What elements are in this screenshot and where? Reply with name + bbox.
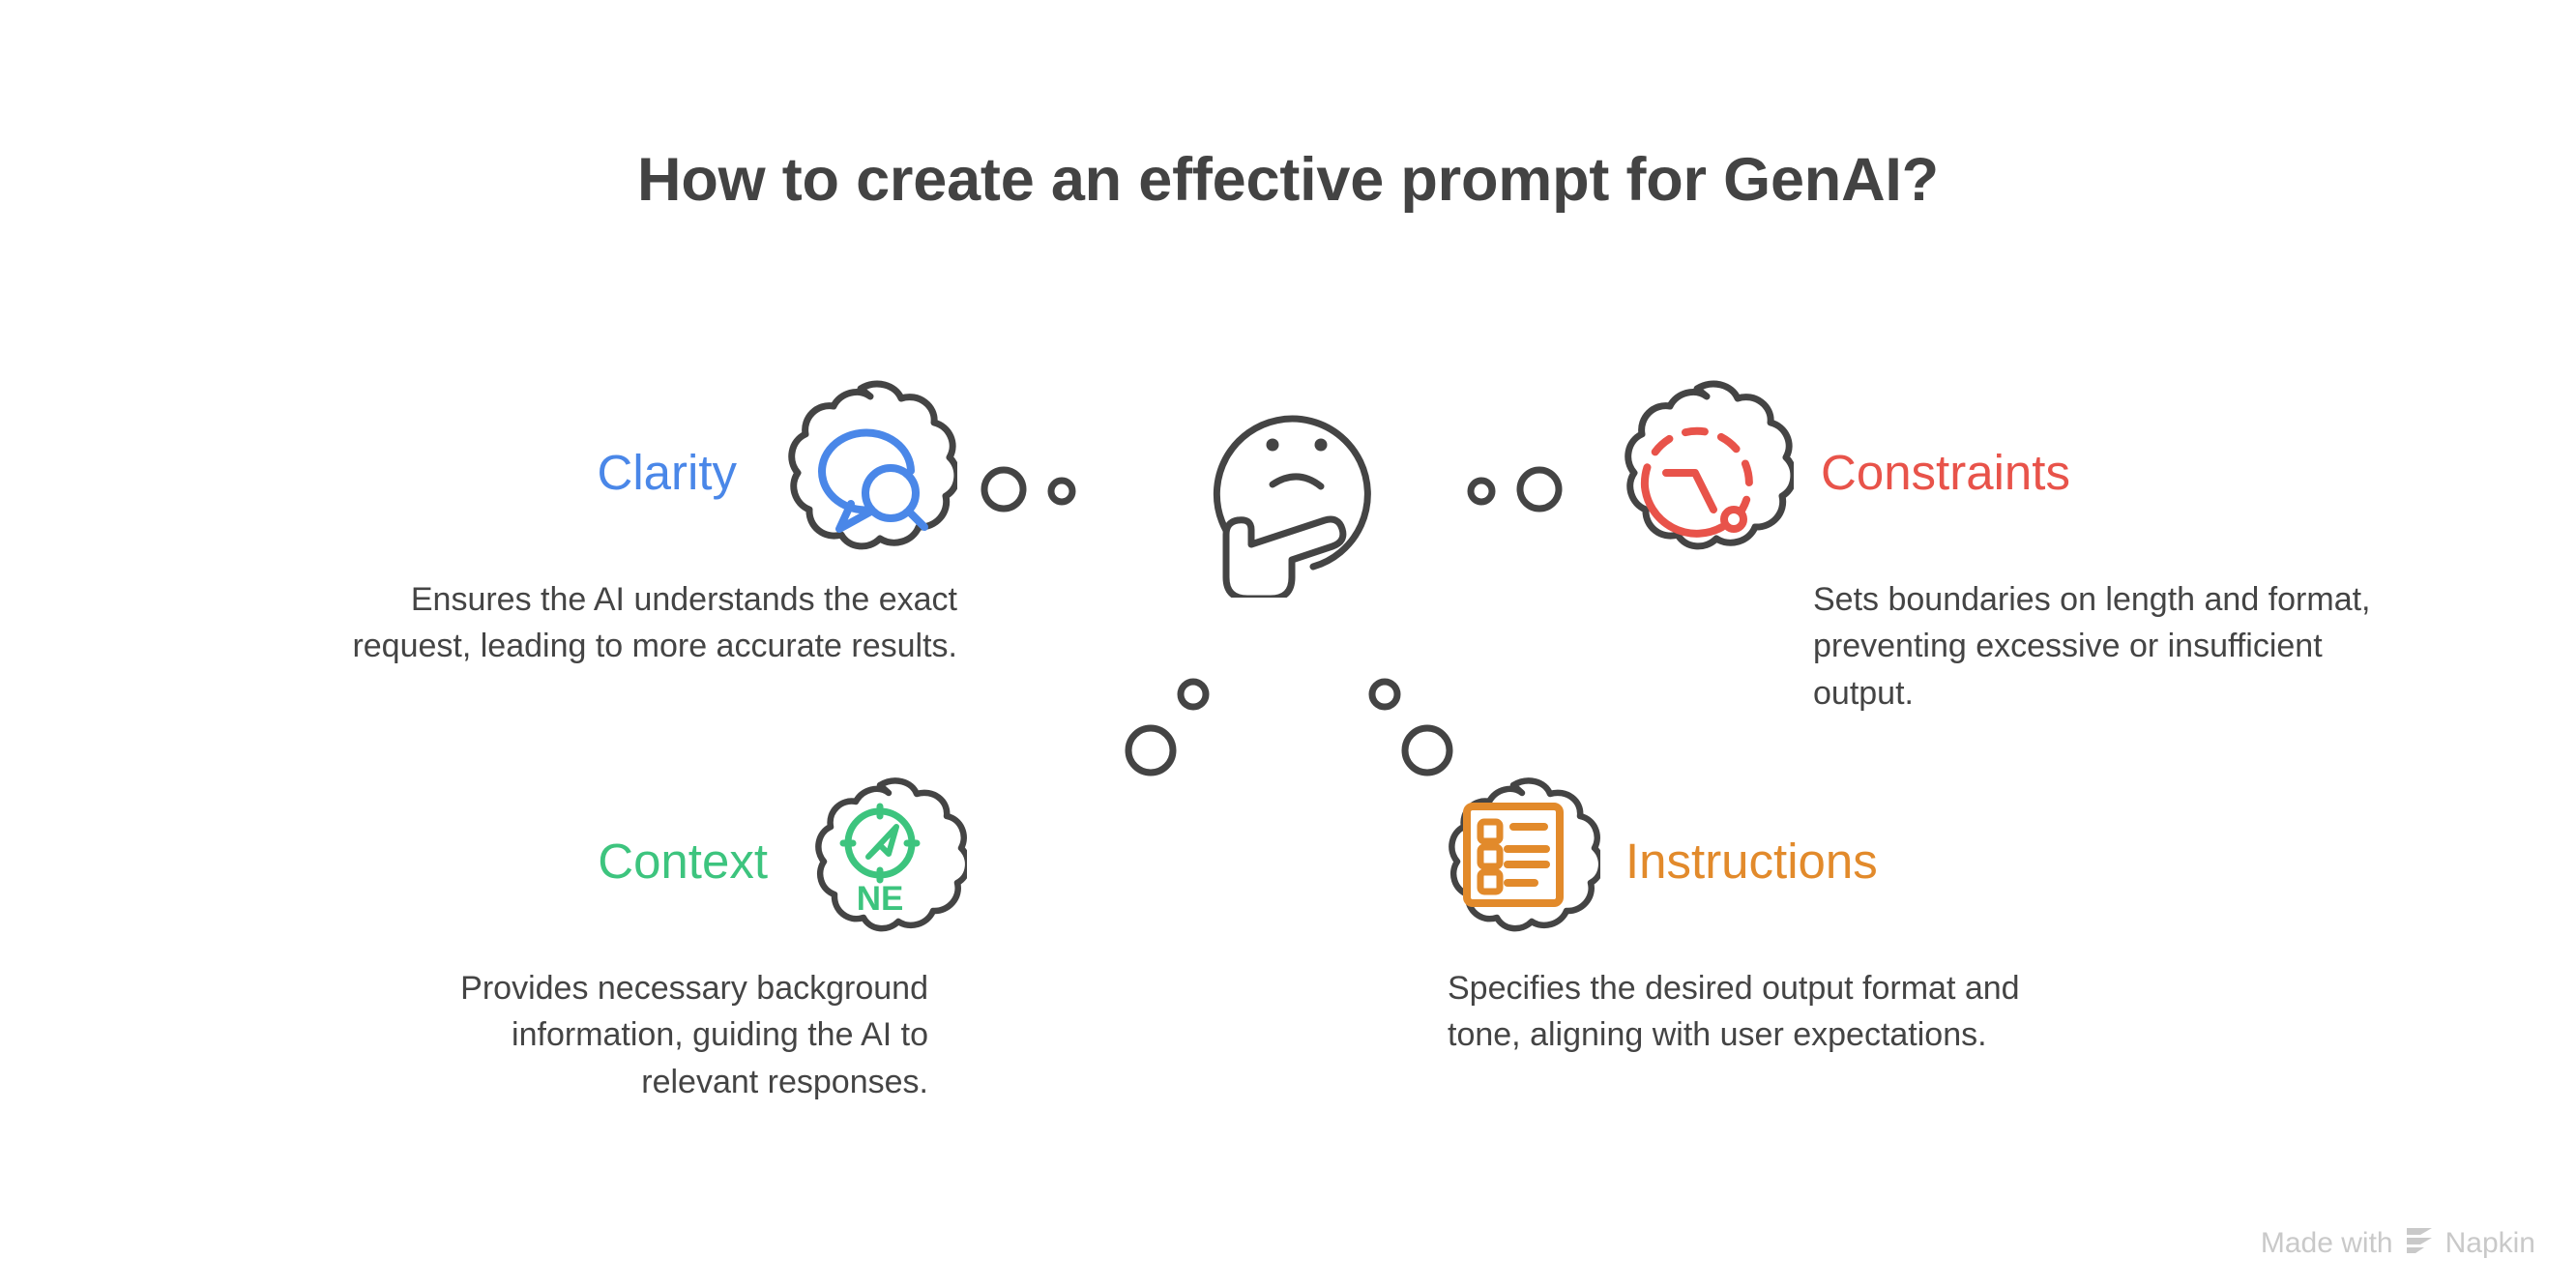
checklist-icon bbox=[1426, 774, 1600, 949]
node-constraints-head: Constraints bbox=[1600, 375, 2432, 569]
node-constraints-description: Sets boundaries on length and format, pr… bbox=[1813, 576, 2432, 717]
node-context-description: Provides necessary background informatio… bbox=[425, 965, 928, 1105]
compass-direction-text: NE bbox=[857, 880, 904, 918]
speech-bubble-magnifier-icon bbox=[764, 375, 957, 569]
watermark: Made with Napkin bbox=[2261, 1226, 2535, 1261]
dashed-gauge-dial-icon bbox=[1600, 375, 1794, 569]
node-clarity-description: Ensures the AI understands the exact req… bbox=[338, 576, 957, 670]
node-context-head: Context NE bbox=[425, 764, 967, 957]
thought-dots-context bbox=[1110, 663, 1236, 794]
page-title: How to create an effective prompt for Ge… bbox=[0, 147, 2576, 214]
thought-dots-clarity bbox=[981, 462, 1135, 521]
thought-dots-constraints bbox=[1460, 462, 1615, 521]
watermark-prefix: Made with bbox=[2261, 1229, 2393, 1258]
node-clarity-head: Clarity bbox=[135, 375, 957, 569]
node-instructions-label: Instructions bbox=[1625, 836, 1878, 886]
node-instructions-head: Instructions bbox=[1426, 764, 2045, 957]
node-instructions-description: Specifies the desired output format and … bbox=[1448, 965, 2028, 1059]
diagram-canvas: How to create an effective prompt for Ge… bbox=[0, 0, 2576, 1288]
node-constraints-label: Constraints bbox=[1821, 448, 2070, 497]
node-clarity[interactable]: Clarity Ensures the AI understands the e… bbox=[135, 375, 957, 670]
compass-icon: NE bbox=[793, 774, 967, 949]
watermark-brand: Napkin bbox=[2445, 1229, 2535, 1258]
node-clarity-label: Clarity bbox=[597, 448, 737, 497]
node-constraints[interactable]: Constraints Sets boundaries on length an… bbox=[1600, 375, 2432, 717]
napkin-logo-icon bbox=[2403, 1226, 2436, 1261]
node-context-label: Context bbox=[598, 836, 768, 886]
node-instructions[interactable]: Instructions Specifies the desired outpu… bbox=[1426, 764, 2045, 1059]
thinking-face-icon bbox=[1178, 366, 1420, 598]
node-context[interactable]: Context NE Provides necessary backgroun bbox=[425, 764, 967, 1105]
